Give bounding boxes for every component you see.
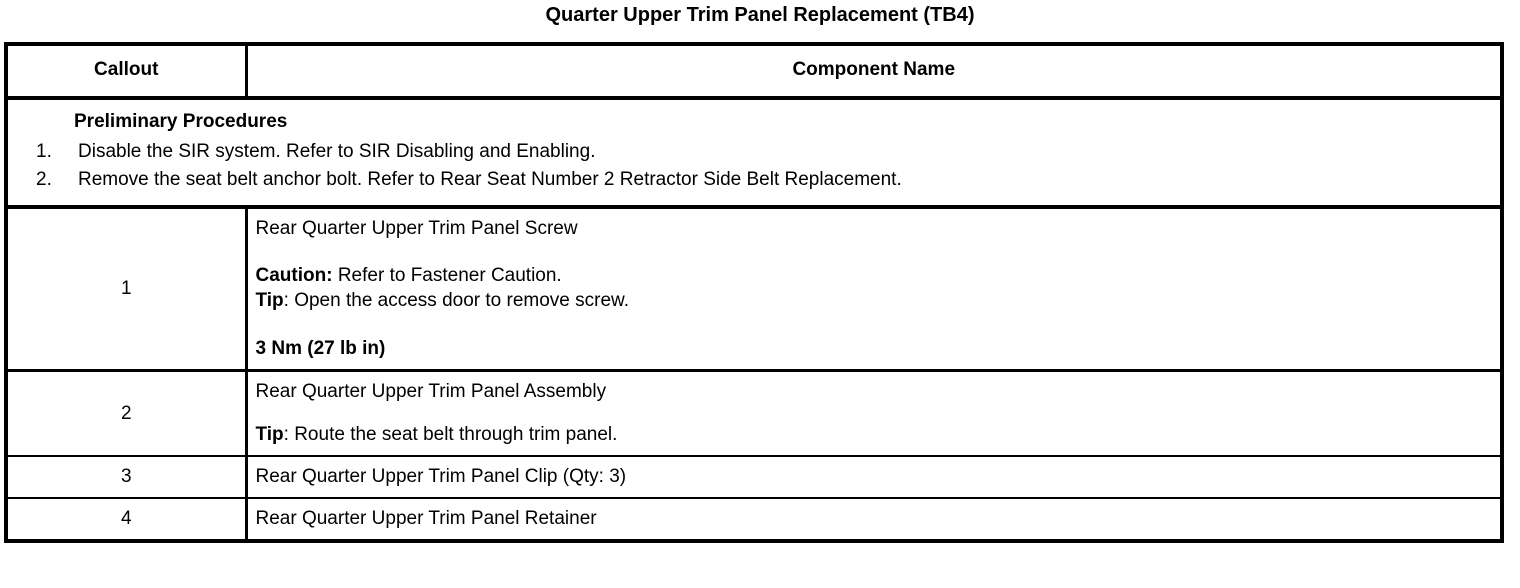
parts-table-container: Callout Component Name Preliminary Proce… — [4, 42, 1504, 543]
list-item: 1.Disable the SIR system. Refer to SIR D… — [16, 138, 1492, 166]
preliminary-procedures-heading: Preliminary Procedures — [74, 109, 1492, 134]
caution-note: Caution: Refer to Fastener Caution. — [256, 263, 1495, 288]
parts-table: Callout Component Name Preliminary Proce… — [4, 42, 1504, 543]
page-title: Quarter Upper Trim Panel Replacement (TB… — [0, 0, 1520, 31]
table-row: 2 Rear Quarter Upper Trim Panel Assembly… — [6, 370, 1502, 456]
component-name: Rear Quarter Upper Trim Panel Retainer — [256, 506, 1495, 531]
list-item-text: Disable the SIR system. Refer to SIR Dis… — [78, 141, 595, 162]
callout-number: 1 — [6, 207, 246, 370]
preliminary-procedures-row: Preliminary Procedures 1.Disable the SIR… — [6, 98, 1502, 207]
document-page: Quarter Upper Trim Panel Replacement (TB… — [0, 0, 1520, 588]
component-description-cell: Rear Quarter Upper Trim Panel Clip (Qty:… — [246, 456, 1502, 498]
caution-text: Refer to Fastener Caution. — [333, 265, 562, 286]
table-row: 3 Rear Quarter Upper Trim Panel Clip (Qt… — [6, 456, 1502, 498]
callout-number: 3 — [6, 456, 246, 498]
column-header-callout: Callout — [6, 44, 246, 98]
table-header-row: Callout Component Name — [6, 44, 1502, 98]
tip-text: : Open the access door to remove screw. — [284, 290, 629, 311]
spacer — [256, 404, 1495, 422]
column-header-component-name: Component Name — [246, 44, 1502, 98]
caution-label: Caution: — [256, 265, 333, 286]
torque-specification: 3 Nm (27 lb in) — [256, 336, 1495, 361]
list-item-text: Remove the seat belt anchor bolt. Refer … — [78, 169, 902, 190]
table-row: 4 Rear Quarter Upper Trim Panel Retainer — [6, 498, 1502, 541]
component-description-cell: Rear Quarter Upper Trim Panel Assembly T… — [246, 370, 1502, 456]
callout-number: 4 — [6, 498, 246, 541]
component-description-cell: Rear Quarter Upper Trim Panel Retainer — [246, 498, 1502, 541]
tip-label: Tip — [256, 424, 284, 445]
callout-number: 2 — [6, 370, 246, 456]
tip-note: Tip: Route the seat belt through trim pa… — [256, 422, 1495, 447]
list-item-number: 2. — [36, 166, 72, 194]
component-description-cell: Rear Quarter Upper Trim Panel Screw Caut… — [246, 207, 1502, 370]
tip-text: : Route the seat belt through trim panel… — [284, 424, 618, 445]
list-item: 2.Remove the seat belt anchor bolt. Refe… — [16, 166, 1492, 194]
list-item-number: 1. — [36, 138, 72, 166]
spacer — [256, 241, 1495, 263]
preliminary-procedures-cell: Preliminary Procedures 1.Disable the SIR… — [6, 98, 1502, 207]
preliminary-procedures-list: 1.Disable the SIR system. Refer to SIR D… — [16, 138, 1492, 194]
component-name: Rear Quarter Upper Trim Panel Clip (Qty:… — [256, 464, 1495, 489]
tip-label: Tip — [256, 290, 284, 311]
spacer — [256, 314, 1495, 336]
component-name: Rear Quarter Upper Trim Panel Screw — [256, 216, 1495, 241]
table-row: 1 Rear Quarter Upper Trim Panel Screw Ca… — [6, 207, 1502, 370]
tip-note: Tip: Open the access door to remove scre… — [256, 288, 1495, 313]
component-name: Rear Quarter Upper Trim Panel Assembly — [256, 379, 1495, 404]
